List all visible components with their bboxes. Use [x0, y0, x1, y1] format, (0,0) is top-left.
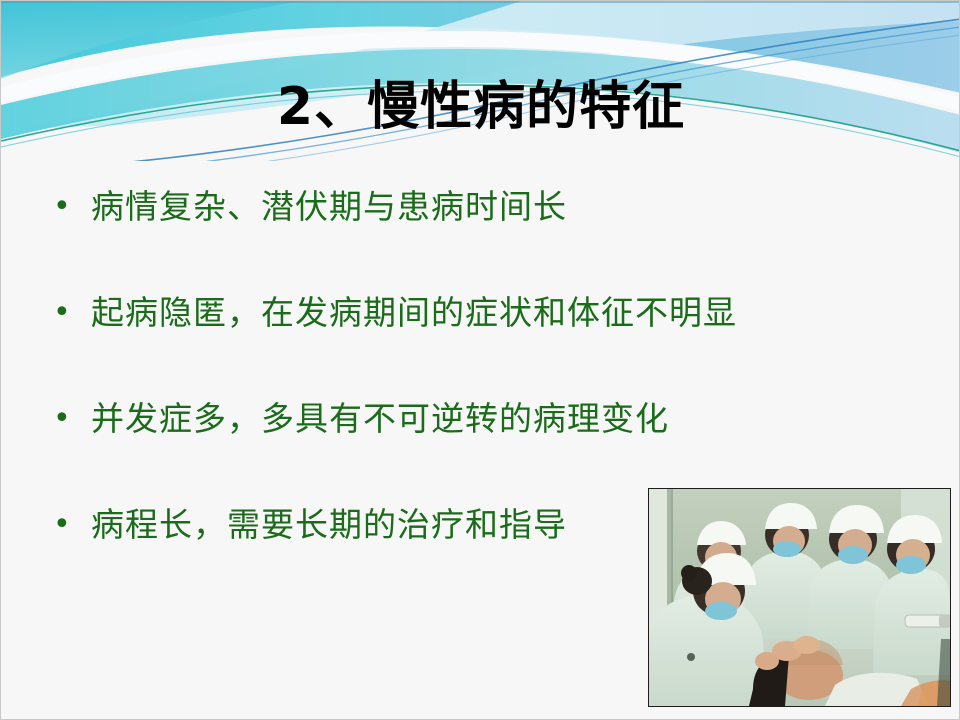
bullet-dot-icon: • — [53, 289, 91, 337]
bullet-dot-icon: • — [53, 501, 91, 549]
bullet-text: 病情复杂、潜伏期与患病时间长 — [91, 183, 913, 231]
page-title: 2、慢性病的特征 — [1, 79, 960, 136]
list-item: • 并发症多，多具有不可逆转的病理变化 — [53, 395, 913, 501]
list-item: • 病情复杂、潜伏期与患病时间长 — [53, 183, 913, 289]
bullet-dot-icon: • — [53, 183, 91, 231]
bullet-text: 并发症多，多具有不可逆转的病理变化 — [91, 395, 913, 443]
list-item: • 起病隐匿，在发病期间的症状和体征不明显 — [53, 289, 913, 395]
bullet-text: 起病隐匿，在发病期间的症状和体征不明显 — [91, 289, 913, 337]
slide-canvas: 2、慢性病的特征 • 病情复杂、潜伏期与患病时间长 • 起病隐匿，在发病期间的症… — [0, 0, 960, 720]
bullet-dot-icon: • — [53, 395, 91, 443]
nurses-treating-patient-photo — [648, 488, 951, 707]
